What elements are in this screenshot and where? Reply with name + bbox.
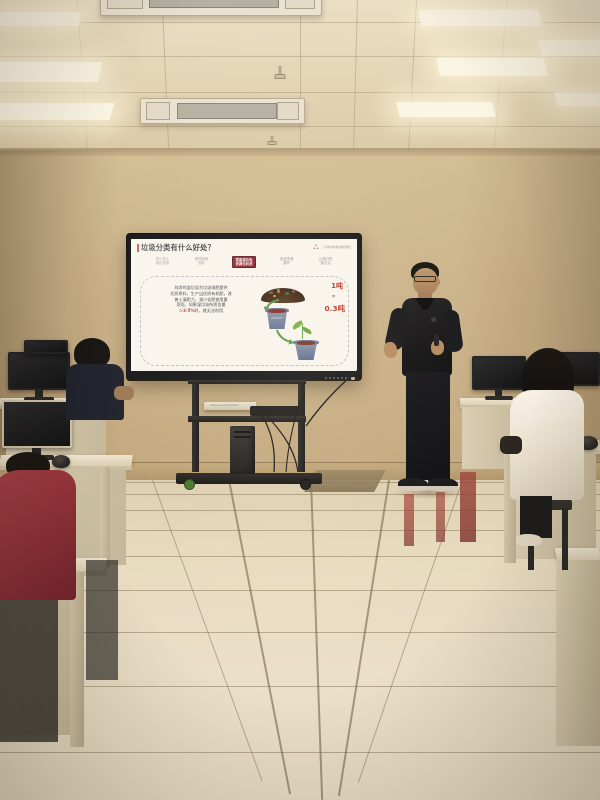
title-accent-bar [137, 244, 139, 252]
classroom-photo-scene: 垃圾分类有什么好处？ 上海市绿化和市容管理局 减少粘土 地的 [0, 0, 600, 800]
nav-item-4[interactable]: 让我们的 美生活 [317, 256, 335, 266]
presenter-shoe-sole-right [428, 486, 458, 491]
ceiling-light [436, 58, 548, 76]
student-right-arm [500, 436, 522, 454]
nav-item-4-line2: 美生活 [319, 261, 333, 265]
ceiling-light [0, 103, 114, 120]
ac-cassette-unit [100, 0, 322, 16]
ac-cassette-unit [140, 98, 305, 124]
sprinkler-head [272, 66, 288, 80]
nav-item-2-active[interactable]: 提高湿垃圾 资源化利用 [232, 256, 257, 268]
student-right-leg [520, 496, 552, 538]
student-right [508, 348, 600, 538]
bucket-body [267, 311, 287, 329]
tv-power-cable [296, 368, 362, 434]
nav-item-1-line2: 回收 [195, 261, 209, 265]
nav-item-0-line2: 地的浪费 [156, 261, 170, 265]
student-left-back-arm [114, 386, 134, 400]
cart-crossbar-top [188, 380, 306, 384]
body-highlight-line: ＞3-5%时，就无法利用 [145, 308, 257, 314]
logo-text: 上海市绿化和市容管理局 [322, 245, 351, 249]
bucket-label: COMPOST [271, 318, 283, 320]
ceiling [0, 0, 600, 152]
desk-right-1 [556, 548, 600, 748]
equals-symbol: = [332, 294, 335, 300]
nav-item-3-line2: 循环 [280, 261, 294, 265]
presentation-slide: 垃圾分类有什么好处？ 上海市绿化和市容管理局 减少粘土 地的 [131, 239, 357, 371]
pot-body [295, 343, 317, 360]
caster-wheel-right [300, 479, 311, 490]
student-right-shoe [516, 534, 542, 546]
ceiling-light [396, 102, 496, 117]
tv-screen: 垃圾分类有什么好处？ 上海市绿化和市容管理局 减少粘土 地的 [131, 239, 357, 371]
recycle-icon [312, 243, 320, 251]
shelf-items-center [404, 494, 414, 546]
organization-logo: 上海市绿化和市容管理局 [312, 243, 351, 251]
slide-body-text: 纯净的湿垃圾为垃圾堆肥提供 优质原料，生产出优质有机肥，改 善土壤肥力，减少化肥… [145, 285, 257, 314]
compost-bucket-icon: COMPOST [265, 306, 289, 330]
presenter-shoe-sole-left [398, 486, 428, 491]
wall-mounted-tv[interactable]: 垃圾分类有什么好处？ 上海市绿化和市容管理局 减少粘土 地的 [127, 234, 361, 380]
ceiling-light [538, 40, 600, 56]
amount-output-label: 0.3吨 [325, 303, 345, 314]
presenter [384, 262, 484, 500]
presenter-remote-clicker[interactable] [434, 334, 439, 346]
highlight-tail: 时，就无法利用 [194, 308, 223, 313]
pot-soil [297, 341, 315, 345]
ceiling-light [0, 62, 102, 82]
ceiling-light [554, 92, 600, 106]
sprinkler-head [264, 136, 280, 148]
nav-item-1[interactable]: 降低能耗 回收 [193, 256, 211, 266]
presenter-glasses [414, 276, 436, 282]
slide-graphics: 1吨 = 0.3吨 COMPOST [259, 279, 345, 371]
nav-item-3[interactable]: 促进资源 循环 [278, 256, 296, 266]
slide-nav: 减少粘土 地的浪费 降低能耗 回收 提高湿垃圾 资源化利用 促进资源 循环 [137, 256, 351, 268]
presenter-logo-badge [431, 317, 436, 322]
cart-post-left [192, 380, 199, 472]
student-left-front-torso [0, 470, 76, 600]
student-left-front [0, 452, 110, 612]
caster-wheel-left [184, 479, 195, 490]
nav-item-2-line2: 资源化利用 [236, 262, 253, 266]
ceiling-light [419, 10, 542, 26]
presenter-leg-right [428, 372, 450, 482]
bucket-contents [268, 309, 286, 313]
slide-header: 垃圾分类有什么好处？ 上海市绿化和市容管理局 [137, 243, 351, 253]
ceiling-light [0, 12, 81, 26]
amount-input-label: 1吨 [331, 281, 343, 291]
slide-title: 垃圾分类有什么好处？ [141, 243, 215, 253]
presenter-leg-left [406, 372, 429, 480]
keyboard-label: WIRELESS KEYBOARD [210, 404, 239, 407]
student-left-back [62, 338, 132, 428]
nav-item-0[interactable]: 减少粘土 地的浪费 [154, 256, 172, 266]
plant-pot-icon [293, 337, 319, 361]
highlight-value: ＞3-5% [179, 308, 195, 313]
slide-title-group: 垃圾分类有什么好处？ [137, 243, 215, 253]
